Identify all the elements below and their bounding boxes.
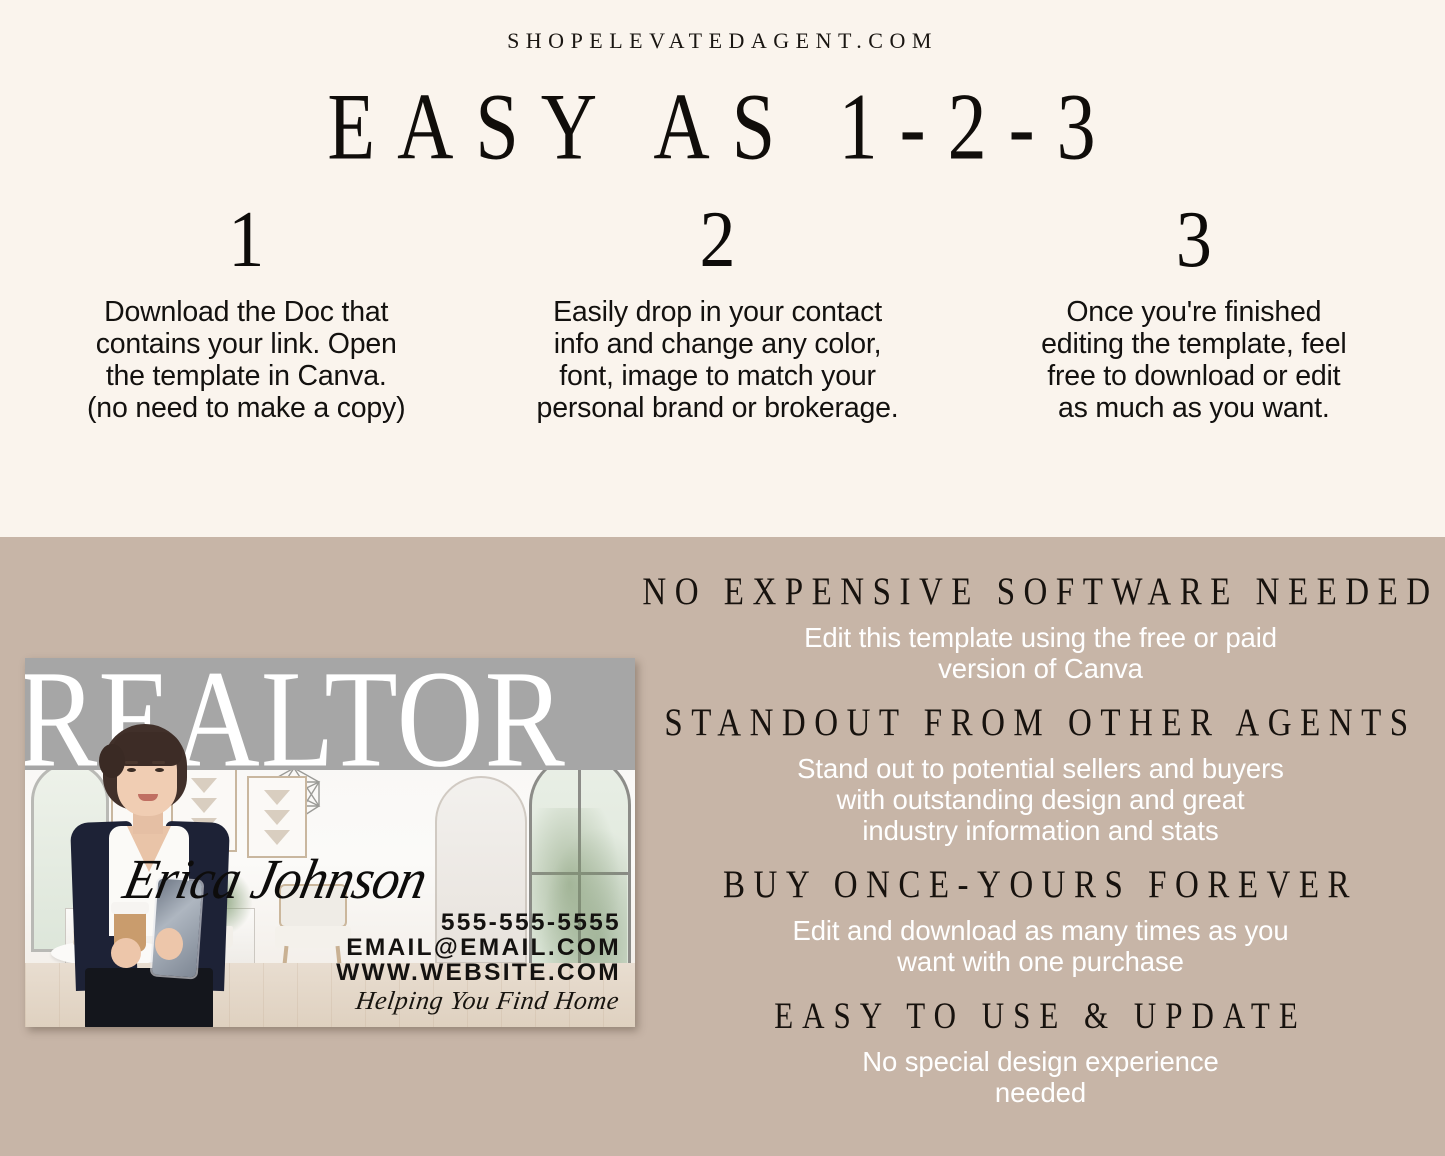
steps-row: 1 Download the Doc that contains your li… (0, 196, 1445, 496)
benefit-body: No special design experience needed (636, 1046, 1445, 1108)
benefit-title: NO EXPENSIVE SOFTWARE NEEDED (636, 567, 1445, 617)
step-description: Once you're finished editing the templat… (1041, 296, 1346, 424)
step-description: Easily drop in your contact info and cha… (537, 296, 899, 424)
site-url: SHOPELEVATEDAGENT.COM (0, 28, 1445, 54)
card-website: WWW.WEBSITE.COM (241, 960, 621, 985)
step-description: Download the Doc that contains your link… (87, 296, 405, 424)
agent-name: Erica Johnson (119, 850, 571, 909)
step-1: 1 Download the Doc that contains your li… (18, 196, 474, 424)
benefits-section: REALTOR E (0, 537, 1445, 1156)
card-email: EMAIL@EMAIL.COM (241, 935, 621, 960)
step-number: 3 (1176, 191, 1212, 287)
card-phone: 555-555-5555 (241, 910, 621, 935)
benefit-title: BUY ONCE-YOURS FOREVER (636, 860, 1445, 910)
benefit-item-3: BUY ONCE-YOURS FOREVER Edit and download… (636, 864, 1445, 977)
benefits-list: NO EXPENSIVE SOFTWARE NEEDED Edit this t… (636, 537, 1445, 1156)
card-contact-info: 555-555-5555 EMAIL@EMAIL.COM WWW.WEBSITE… (241, 910, 621, 985)
card-tagline: Helping You Find Home (287, 986, 621, 1016)
promo-graphic: SHOPELEVATEDAGENT.COM EASY AS 1-2-3 1 Do… (0, 0, 1445, 1156)
step-number: 2 (700, 191, 736, 287)
benefit-body: Edit and download as many times as you w… (636, 915, 1445, 977)
benefit-item-2: STANDOUT FROM OTHER AGENTS Stand out to … (636, 702, 1445, 846)
step-number: 1 (228, 191, 264, 287)
step-3: 3 Once you're finished editing the templ… (961, 196, 1427, 424)
page-title: EASY AS 1-2-3 (0, 72, 1445, 182)
business-card-preview: REALTOR E (25, 658, 635, 1027)
benefit-body: Stand out to potential sellers and buyer… (636, 753, 1445, 846)
framed-art-icon (247, 776, 307, 858)
benefit-item-4: EASY TO USE & UPDATE No special design e… (636, 995, 1445, 1108)
step-2: 2 Easily drop in your contact info and c… (474, 196, 960, 424)
benefit-title: EASY TO USE & UPDATE (636, 991, 1445, 1041)
benefit-title: STANDOUT FROM OTHER AGENTS (636, 698, 1445, 748)
how-it-works-section: SHOPELEVATEDAGENT.COM EASY AS 1-2-3 1 Do… (0, 0, 1445, 537)
benefit-body: Edit this template using the free or pai… (636, 622, 1445, 684)
benefit-item-1: NO EXPENSIVE SOFTWARE NEEDED Edit this t… (636, 571, 1445, 684)
